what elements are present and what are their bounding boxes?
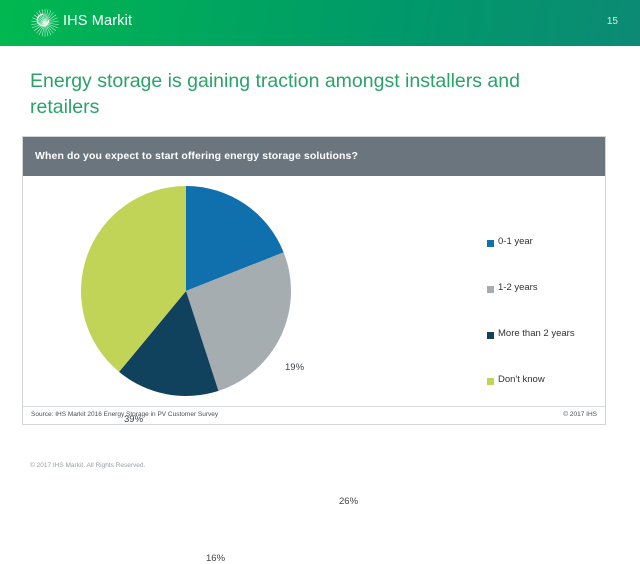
legend-item-1-2-years[interactable]: 1-2 years [487, 283, 605, 329]
legend-label-0: 0-1 year [498, 236, 533, 247]
chart-question-bar: When do you expect to start offering ene… [23, 137, 605, 176]
pie-value-label-0: 19% [285, 362, 304, 373]
legend-swatch-icon-0 [487, 240, 494, 247]
legend-swatch-icon-1 [487, 286, 494, 293]
chart-question-text: When do you expect to start offering ene… [35, 150, 358, 162]
legend-swatch-icon-2 [487, 332, 494, 339]
top-header-bar: IHS Markit 15 [0, 0, 640, 46]
source-note: Source: IHS Markit 2016 Energy Storage i… [31, 411, 218, 418]
chart-panel: When do you expect to start offering ene… [22, 136, 606, 425]
ihs-markit-sunburst-logo-icon [30, 8, 60, 38]
pie-slices [81, 186, 291, 396]
panel-copyright: © 2017 IHS [563, 411, 597, 418]
pie-value-label-2: 16% [206, 553, 225, 564]
chart-footer: Source: IHS Markit 2016 Energy Storage i… [23, 406, 605, 424]
pie-chart [71, 182, 301, 400]
legend-label-3: Don't know [498, 374, 545, 385]
legend-label-2: More than 2 years [498, 328, 575, 339]
pie-chart-plot-area: 19% 26% 16% 39% 0-1 year 1-2 years More … [23, 176, 605, 408]
chart-legend: 0-1 year 1-2 years More than 2 years Don… [487, 237, 605, 421]
slide-copyright: © 2017 IHS Markit. All Rights Reserved. [30, 462, 145, 469]
brand-name: IHS Markit [63, 13, 132, 29]
legend-item-more-than-2-years[interactable]: More than 2 years [487, 329, 605, 375]
page-number: 15 [607, 16, 618, 27]
legend-label-1: 1-2 years [498, 282, 538, 293]
legend-item-0-1-year[interactable]: 0-1 year [487, 237, 605, 283]
pie-value-label-1: 26% [339, 496, 358, 507]
legend-swatch-icon-3 [487, 378, 494, 385]
page-title: Energy storage is gaining traction among… [30, 68, 590, 120]
